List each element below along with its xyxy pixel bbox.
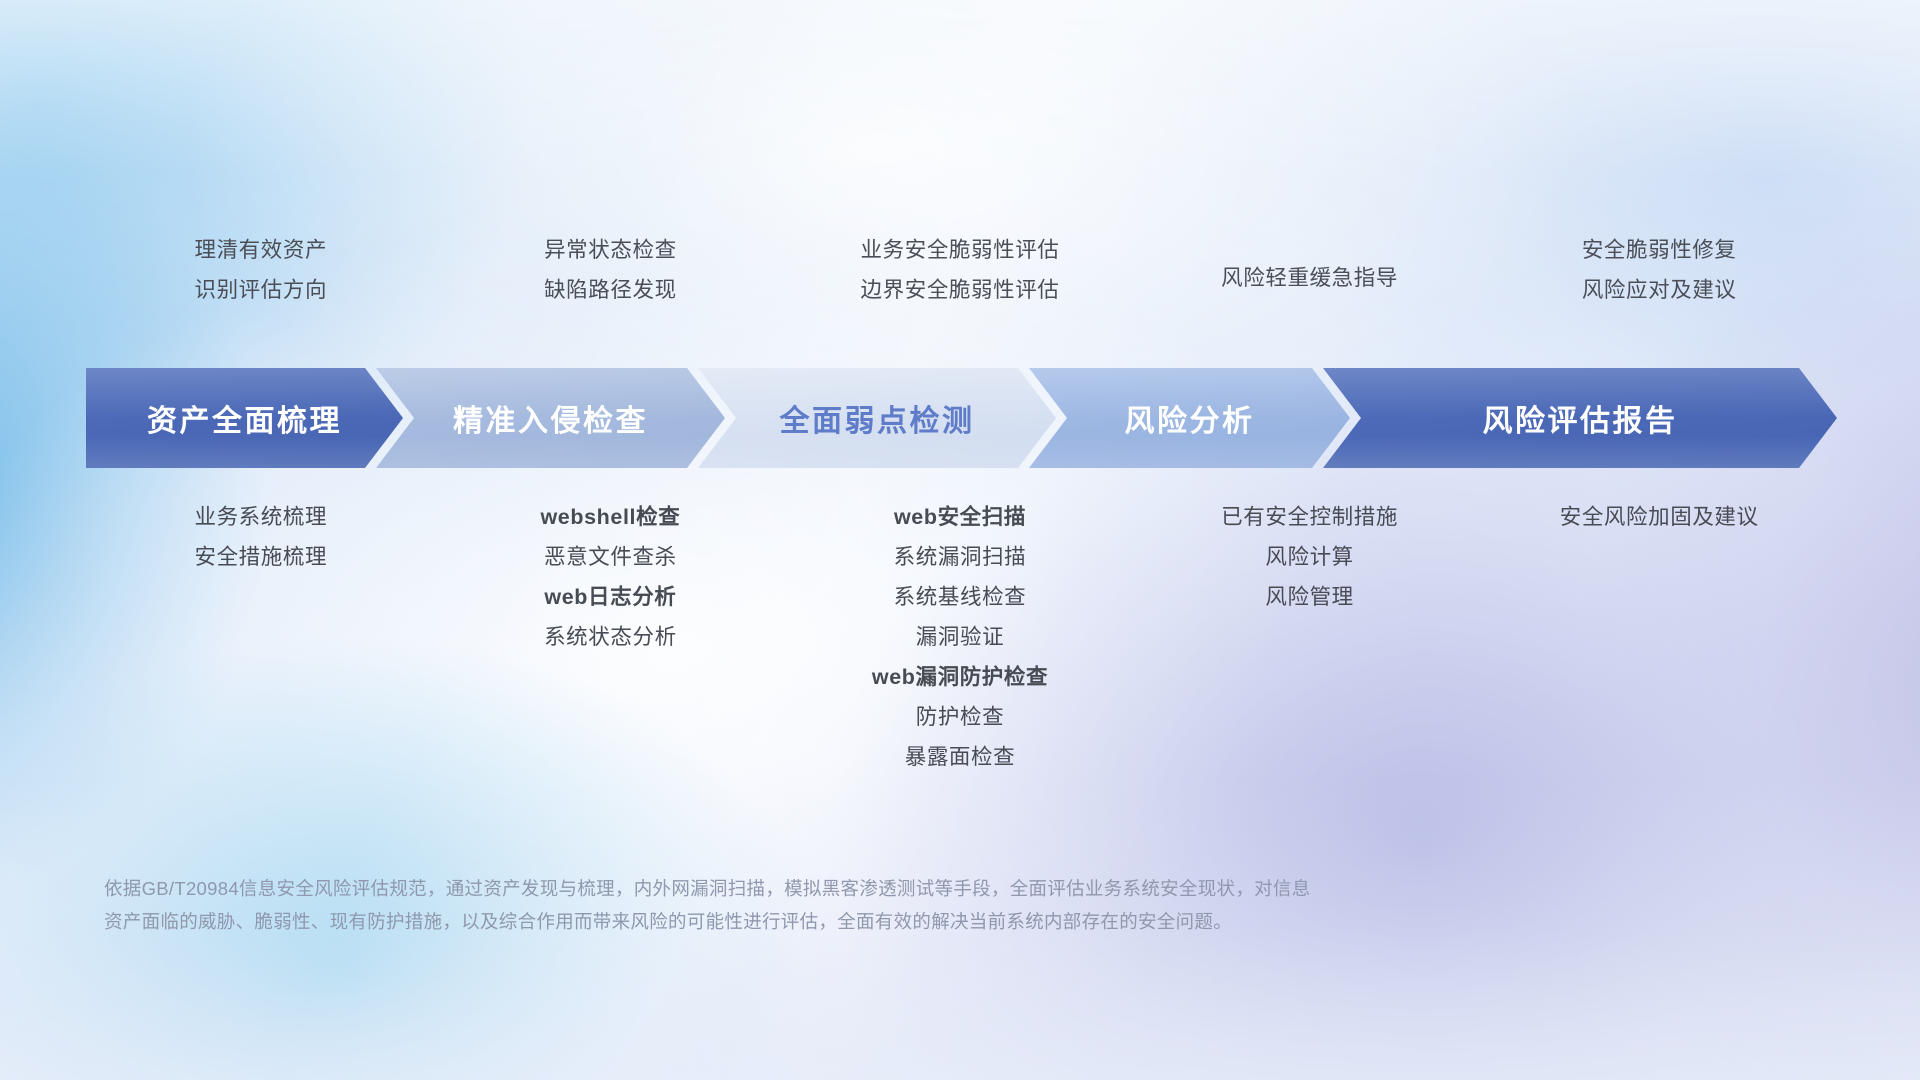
below-text-line: 风险管理 xyxy=(1135,577,1485,617)
below-text-line: 系统漏洞扫描 xyxy=(785,537,1135,577)
chevron-lowlight xyxy=(1029,436,1350,468)
below-text-risk-analysis: 已有安全控制措施 风险计算 风险管理 xyxy=(1135,497,1485,777)
below-text-line: web安全扫描 xyxy=(785,497,1135,537)
stage-label: 精准入侵检查 xyxy=(453,396,648,440)
above-stage-text-row: 理清有效资产 识别评估方向 异常状态检查 缺陷路径发现 业务安全脆弱性评估 边界… xyxy=(86,230,1834,310)
stage-label: 风险评估报告 xyxy=(1483,396,1678,440)
below-text-line: 恶意文件查杀 xyxy=(436,537,786,577)
below-text-line: 漏洞验证 xyxy=(785,617,1135,657)
above-text-intrusion-check: 异常状态检查 缺陷路径发现 xyxy=(436,230,786,310)
above-text-line: 风险应对及建议 xyxy=(1484,270,1834,310)
below-text-line: 安全风险加固及建议 xyxy=(1484,497,1834,537)
below-text-line: 已有安全控制措施 xyxy=(1135,497,1485,537)
stage-chevron-risk-analysis[interactable]: 风险分析 xyxy=(1029,368,1350,468)
above-text-line: 识别评估方向 xyxy=(86,270,436,310)
below-text-line: 防护检查 xyxy=(785,697,1135,737)
stage-chevron-asset-inventory[interactable]: 资产全面梳理 xyxy=(86,368,403,468)
footer-line: 资产面临的威胁、脆弱性、现有防护措施，以及综合作用而带来风险的可能性进行评估，全… xyxy=(104,905,1644,938)
below-text-line: 系统基线检查 xyxy=(785,577,1135,617)
below-text-risk-report: 安全风险加固及建议 xyxy=(1484,497,1834,777)
slide-canvas: 理清有效资产 识别评估方向 异常状态检查 缺陷路径发现 业务安全脆弱性评估 边界… xyxy=(0,0,1920,1080)
below-text-line: web漏洞防护检查 xyxy=(785,657,1135,697)
process-chevron-band: 资产全面梳理 精准入侵检查 全面弱点检测 风险分析 风险评估报告 xyxy=(86,368,1837,468)
above-text-risk-analysis: 风险轻重缓急指导 xyxy=(1135,230,1485,310)
stage-label: 全面弱点检测 xyxy=(780,396,975,440)
above-text-weakness-detection: 业务安全脆弱性评估 边界安全脆弱性评估 xyxy=(785,230,1135,310)
below-text-line: 风险计算 xyxy=(1135,537,1485,577)
below-text-line: 业务系统梳理 xyxy=(86,497,436,537)
footer-line: 依据GB/T20984信息安全风险评估规范，通过资产发现与梳理，内外网漏洞扫描，… xyxy=(104,872,1644,905)
below-text-line: 暴露面检查 xyxy=(785,737,1135,777)
below-text-intrusion-check: webshell检查 恶意文件查杀 web日志分析 系统状态分析 xyxy=(436,497,786,777)
above-text-line: 理清有效资产 xyxy=(86,230,436,270)
stage-chevron-intrusion-check[interactable]: 精准入侵检查 xyxy=(376,368,725,468)
above-text-line: 异常状态检查 xyxy=(436,230,786,270)
chevron-lowlight xyxy=(86,436,403,468)
below-text-line: 安全措施梳理 xyxy=(86,537,436,577)
above-text-line: 缺陷路径发现 xyxy=(436,270,786,310)
above-text-risk-report: 安全脆弱性修复 风险应对及建议 xyxy=(1484,230,1834,310)
chevron-lowlight xyxy=(698,436,1056,468)
above-text-line: 业务安全脆弱性评估 xyxy=(785,230,1135,270)
below-stage-text-row: 业务系统梳理 安全措施梳理 webshell检查 恶意文件查杀 web日志分析 … xyxy=(86,497,1834,777)
stage-chevron-risk-report[interactable]: 风险评估报告 xyxy=(1323,368,1837,468)
stage-chevron-weakness-detection[interactable]: 全面弱点检测 xyxy=(698,368,1056,468)
above-text-line: 安全脆弱性修复 xyxy=(1484,230,1834,270)
chevron-lowlight xyxy=(376,436,725,468)
below-text-line: webshell检查 xyxy=(436,497,786,537)
below-text-line: web日志分析 xyxy=(436,577,786,617)
above-text-line: 边界安全脆弱性评估 xyxy=(785,270,1135,310)
slide-content: 理清有效资产 识别评估方向 异常状态检查 缺陷路径发现 业务安全脆弱性评估 边界… xyxy=(0,0,1920,1080)
above-text-asset-inventory: 理清有效资产 识别评估方向 xyxy=(86,230,436,310)
footer-description: 依据GB/T20984信息安全风险评估规范，通过资产发现与梳理，内外网漏洞扫描，… xyxy=(104,872,1644,938)
below-text-line: 系统状态分析 xyxy=(436,617,786,657)
stage-label: 资产全面梳理 xyxy=(147,396,342,440)
below-text-weakness-detection: web安全扫描 系统漏洞扫描 系统基线检查 漏洞验证 web漏洞防护检查 防护检… xyxy=(785,497,1135,777)
above-text-line: 风险轻重缓急指导 xyxy=(1135,258,1485,298)
chevron-lowlight xyxy=(1323,436,1837,468)
below-text-asset-inventory: 业务系统梳理 安全措施梳理 xyxy=(86,497,436,777)
stage-label: 风险分析 xyxy=(1125,396,1255,440)
